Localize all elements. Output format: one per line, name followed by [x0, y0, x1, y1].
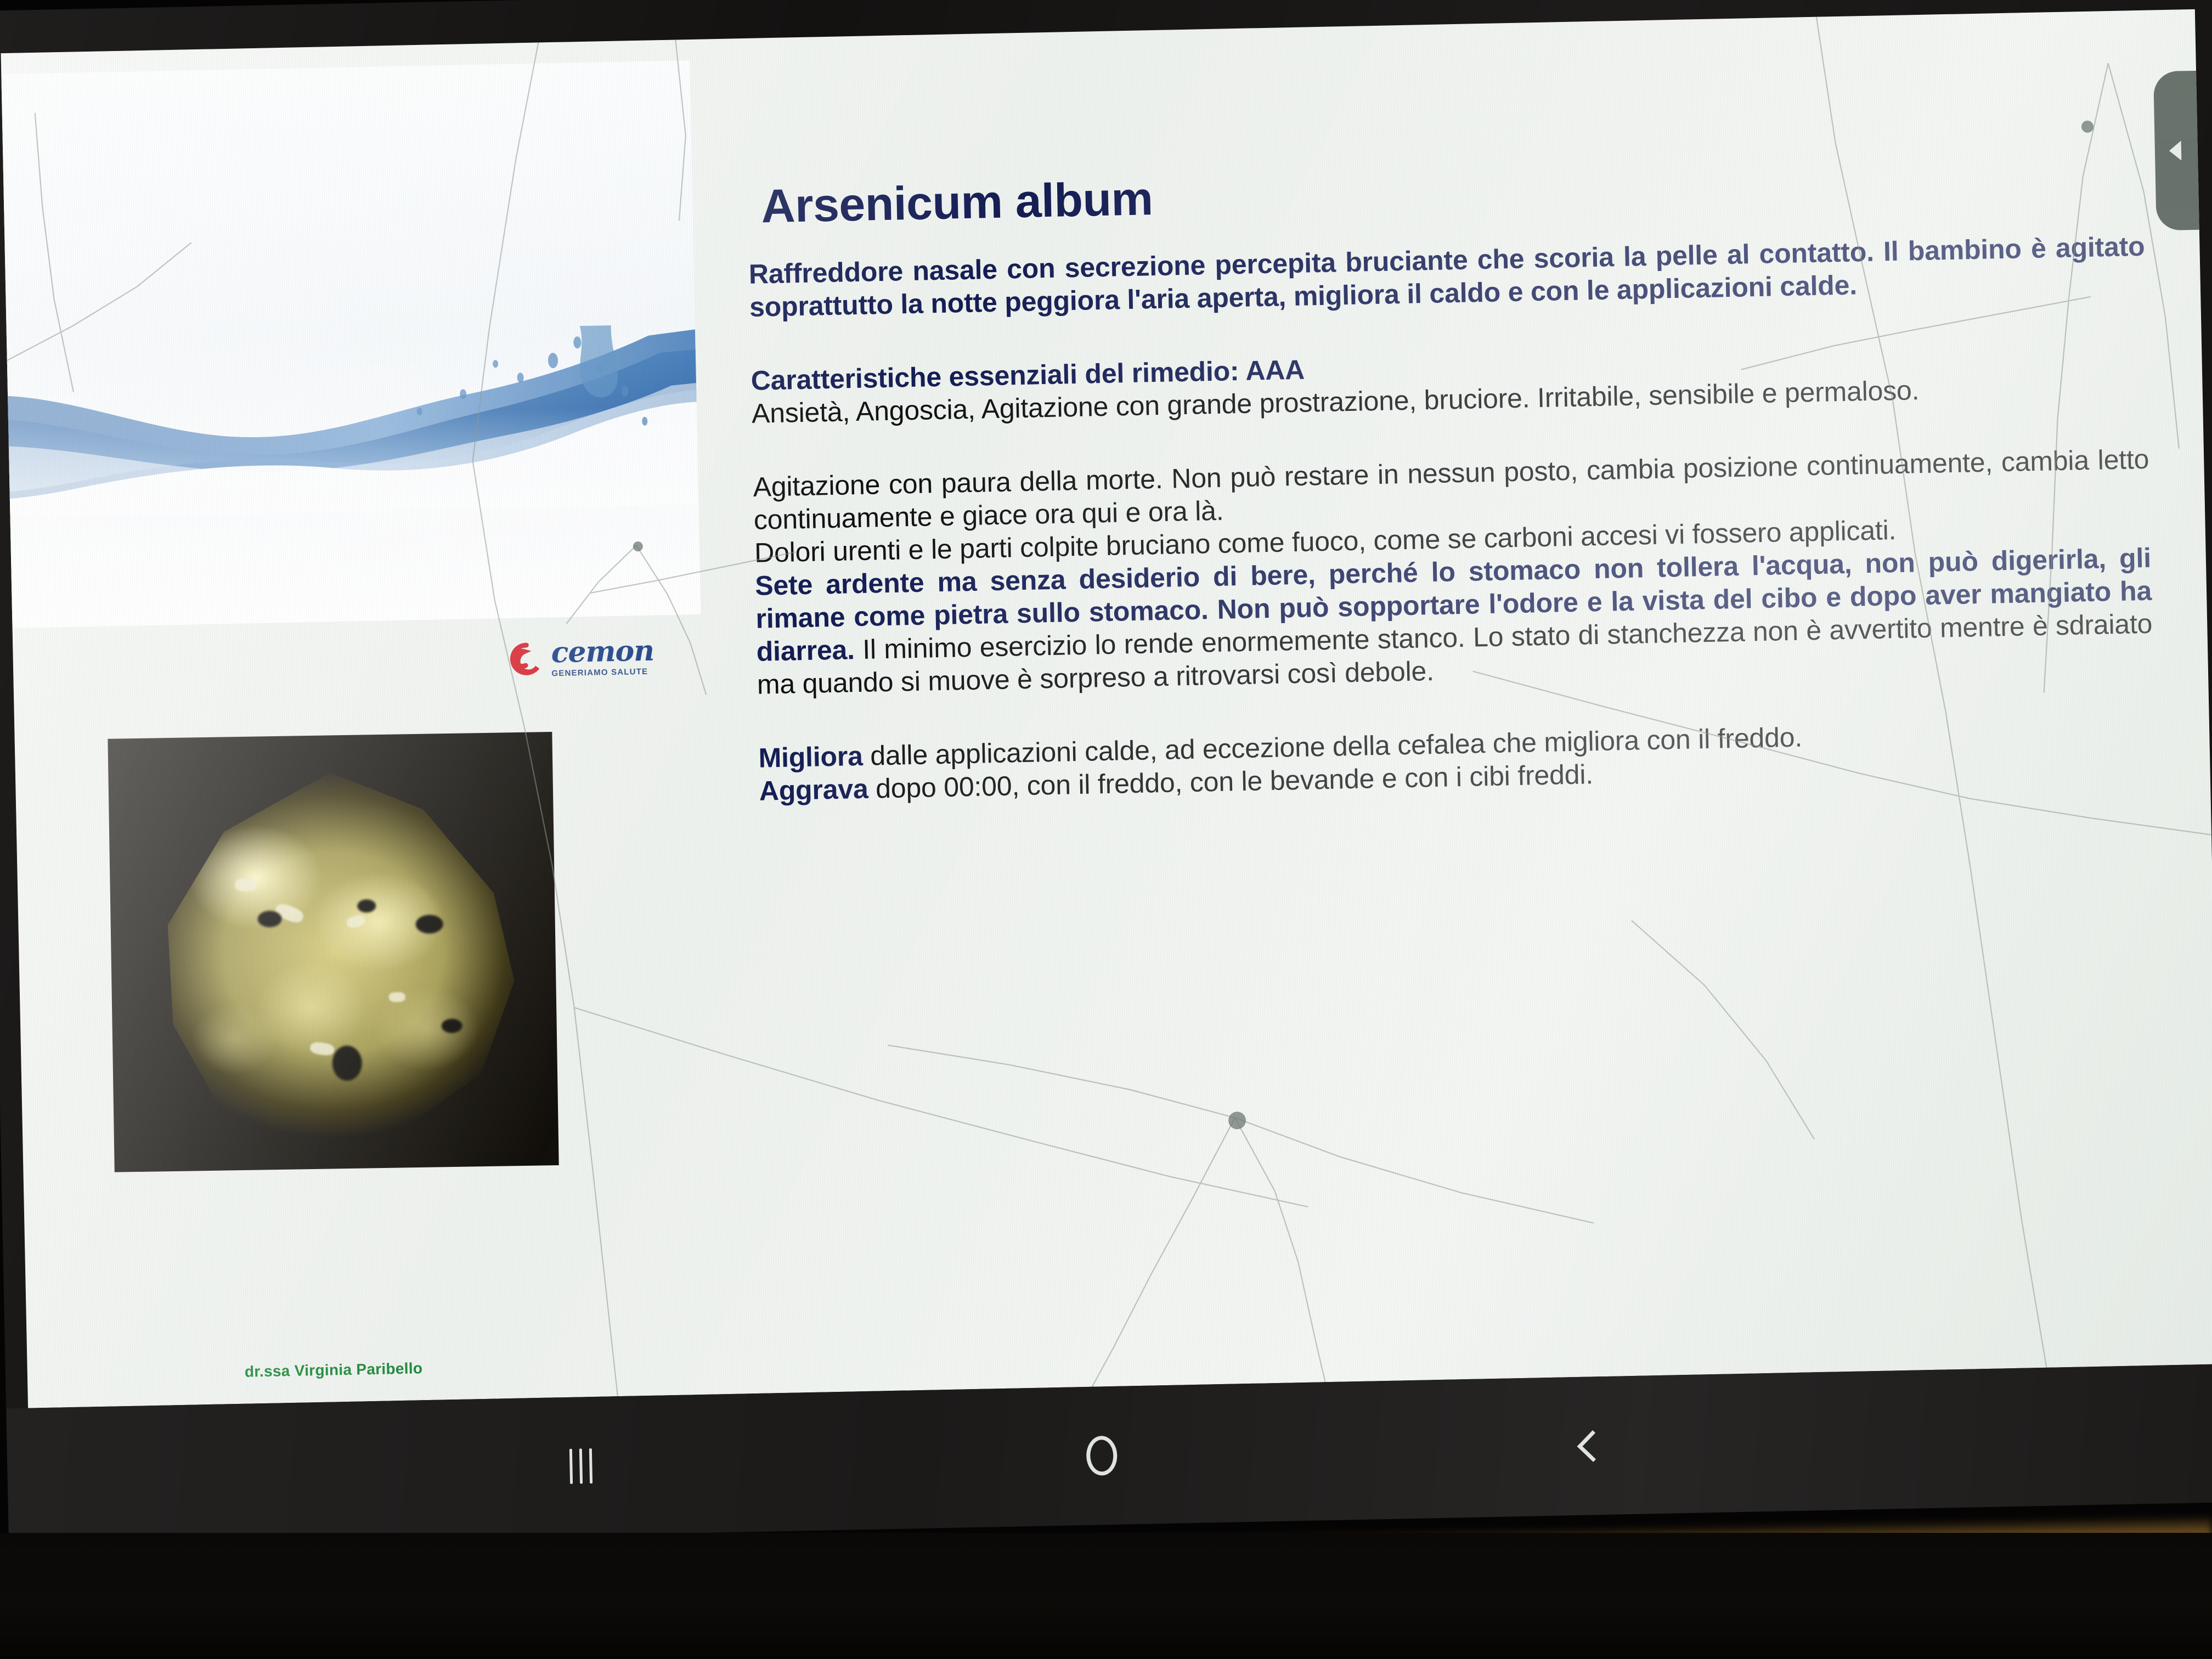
cemon-name: cemon	[551, 637, 654, 668]
chevron-left-icon	[2169, 140, 2182, 160]
recents-button[interactable]	[517, 1424, 645, 1509]
cemon-spiral-icon	[509, 641, 544, 676]
aggrava-label: Aggrava	[759, 774, 868, 806]
home-button[interactable]	[1038, 1413, 1166, 1498]
mineral-specimen	[138, 766, 528, 1156]
page-title: Arsenicum album	[760, 172, 1153, 234]
photo-bottom-shadow	[0, 1533, 2212, 1659]
slide-left-column: cemon GENERIAMO SALUTE	[1, 39, 716, 1408]
back-chevron-icon	[1577, 1430, 1609, 1462]
arsenic-mineral-photo	[108, 732, 558, 1172]
cemon-wordmark: cemon GENERIAMO SALUTE	[551, 637, 654, 678]
photographed-tablet: cemon GENERIAMO SALUTE	[0, 0, 2212, 1659]
tablet-screen: cemon GENERIAMO SALUTE	[0, 0, 2212, 1547]
water-splash-banner-image	[1, 60, 701, 629]
recents-icon	[569, 1448, 592, 1484]
cemon-logo: cemon GENERIAMO SALUTE	[509, 630, 675, 685]
author-credit: dr.ssa Virginia Paribello	[245, 1359, 423, 1381]
back-button[interactable]	[1529, 1403, 1657, 1488]
page-scroll-indicator[interactable]	[2153, 71, 2204, 231]
slide-text-column: Arsenicum album Raffreddore nasale con s…	[744, 10, 2186, 1393]
slide-body: Raffreddore nasale con secrezione percep…	[748, 230, 2155, 808]
presentation-slide: cemon GENERIAMO SALUTE	[1, 9, 2212, 1408]
home-icon	[1086, 1436, 1118, 1476]
migliora-label: Migliora	[758, 741, 863, 774]
cemon-tagline: GENERIAMO SALUTE	[551, 668, 654, 678]
